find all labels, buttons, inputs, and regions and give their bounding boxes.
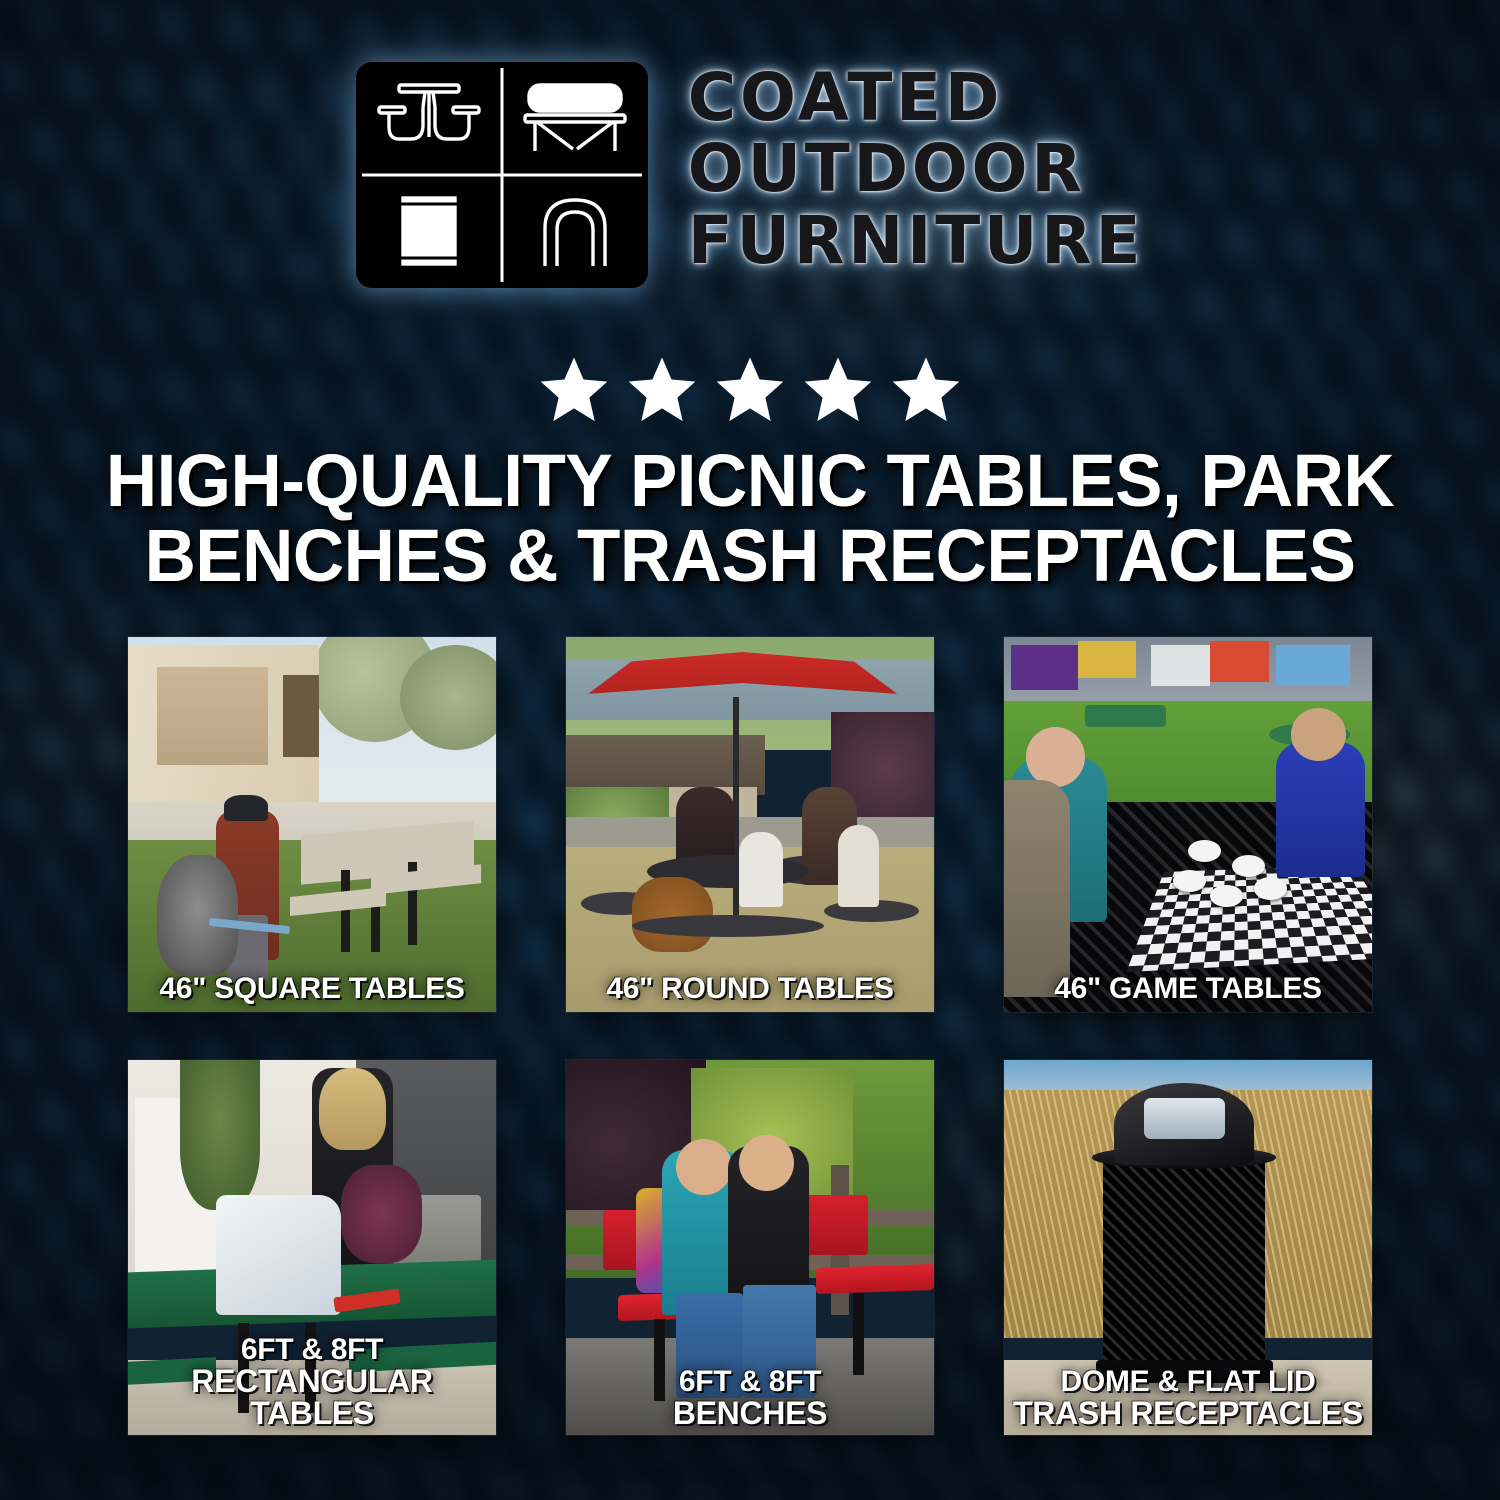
- caption-line-2: RECTANGULAR TABLES: [134, 1365, 490, 1429]
- bike-rack-icon: [502, 175, 648, 288]
- product-caption-benches: 6FT & 8FT BENCHES: [566, 1367, 934, 1429]
- caption-line-1: 46" ROUND TABLES: [606, 972, 893, 1005]
- product-photo-game-tables: [1004, 637, 1372, 1012]
- page-title: HIGH-QUALITY PICNIC TABLES, PARK BENCHES…: [30, 443, 1470, 594]
- picnic-table-icon: [356, 62, 502, 175]
- product-card-rectangular-tables[interactable]: 6FT & 8FT RECTANGULAR TABLES: [128, 1060, 496, 1435]
- star-icon-5: [889, 352, 963, 426]
- trash-receptacle-icon: [356, 175, 502, 288]
- bench-icon: [502, 62, 648, 175]
- product-card-benches[interactable]: 6FT & 8FT BENCHES: [566, 1060, 934, 1435]
- product-card-square-tables[interactable]: 46" SQUARE TABLES: [128, 637, 496, 1012]
- caption-line-1: 6FT & 8FT: [241, 1333, 383, 1366]
- logo-divider-horizontal: [362, 174, 642, 177]
- caption-line-1: 6FT & 8FT: [679, 1365, 821, 1398]
- product-caption-game-tables: 46" GAME TABLES: [1004, 974, 1372, 1004]
- caption-line-1: 46" SQUARE TABLES: [159, 972, 464, 1005]
- star-icon-1: [537, 352, 611, 426]
- logo-lockup: COATED OUTDOOR FURNITURE: [356, 62, 1144, 288]
- caption-line-1: 46" GAME TABLES: [1054, 972, 1322, 1005]
- brand-name-line-2: OUTDOOR: [688, 137, 1144, 200]
- star-rating: [0, 352, 1500, 426]
- product-grid-row-2: 6FT & 8FT RECTANGULAR TABLES: [128, 1060, 1373, 1435]
- poster-content: COATED OUTDOOR FURNITURE HIGH-QUALITY PI…: [0, 0, 1500, 1500]
- product-card-game-tables[interactable]: 46" GAME TABLES: [1004, 637, 1372, 1012]
- product-card-trash-receptacles[interactable]: DOME & FLAT LID TRASH RECEPTACLES: [1004, 1060, 1372, 1435]
- product-caption-rectangular-tables: 6FT & 8FT RECTANGULAR TABLES: [128, 1335, 496, 1429]
- brand-logo-mark: [356, 62, 648, 288]
- star-icon-3: [713, 352, 787, 426]
- brand-header: COATED OUTDOOR FURNITURE: [0, 62, 1500, 288]
- brand-name-line-1: COATED: [688, 66, 1144, 129]
- product-grid-row-1: 46" SQUARE TABLES: [128, 637, 1373, 1012]
- product-caption-square-tables: 46" SQUARE TABLES: [128, 974, 496, 1004]
- product-photo-square-tables: [128, 637, 496, 1012]
- product-card-round-tables[interactable]: 46" ROUND TABLES: [566, 637, 934, 1012]
- star-icon-4: [801, 352, 875, 426]
- star-icon-2: [625, 352, 699, 426]
- product-caption-round-tables: 46" ROUND TABLES: [566, 974, 934, 1004]
- caption-line-2: BENCHES: [572, 1397, 928, 1429]
- headline-line-2: BENCHES & TRASH RECEPTACLES: [88, 518, 1413, 593]
- product-grid: 46" SQUARE TABLES: [128, 637, 1373, 1435]
- product-caption-trash-receptacles: DOME & FLAT LID TRASH RECEPTACLES: [1004, 1367, 1372, 1429]
- brand-wordmark: COATED OUTDOOR FURNITURE: [688, 62, 1144, 272]
- caption-line-1: DOME & FLAT LID: [1061, 1365, 1316, 1398]
- caption-line-2: TRASH RECEPTACLES: [1010, 1397, 1366, 1429]
- headline-line-1: HIGH-QUALITY PICNIC TABLES, PARK: [106, 439, 1394, 522]
- product-photo-round-tables: [566, 637, 934, 1012]
- brand-name-line-3: FURNITURE: [688, 209, 1144, 272]
